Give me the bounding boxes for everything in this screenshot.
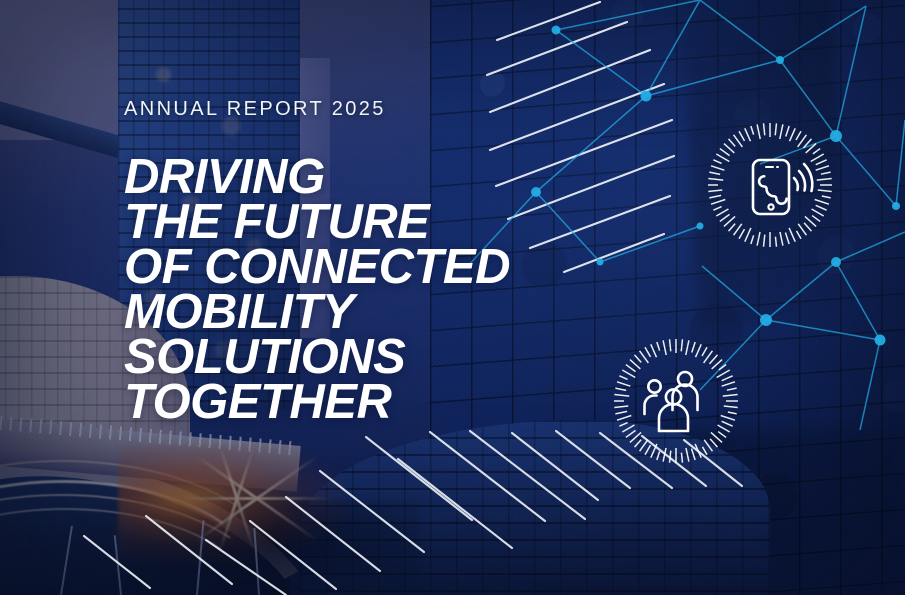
people-group-icon [609, 334, 743, 468]
phone-handset-glyph [759, 176, 786, 203]
person-left-small [645, 380, 661, 414]
headline-line-6: TOGETHER [124, 380, 510, 425]
phone-home-dot [768, 204, 773, 209]
headline-line-4: MOBILITY [124, 290, 510, 335]
page-title: DRIVING THE FUTURE OF CONNECTED MOBILITY… [124, 155, 510, 425]
phone-speaker-slot [765, 166, 779, 168]
smartphone-call-icon [703, 118, 837, 252]
headline-line-1: DRIVING [124, 155, 510, 200]
radial-tick-circle [614, 339, 738, 463]
annual-report-cover: ANNUAL REPORT 2025 DRIVING THE FUTURE OF… [0, 0, 905, 595]
headline-line-5: SOLUTIONS [124, 335, 510, 380]
speed-ray-fan-upper [487, 2, 674, 272]
signal-waves [794, 164, 812, 191]
eyebrow-label: ANNUAL REPORT 2025 [124, 98, 510, 121]
smartphone-body [753, 160, 789, 214]
headline-line-3: OF CONNECTED [124, 245, 510, 290]
cover-text-block: ANNUAL REPORT 2025 DRIVING THE FUTURE OF… [124, 98, 510, 425]
headline-line-2: THE FUTURE [124, 200, 510, 245]
